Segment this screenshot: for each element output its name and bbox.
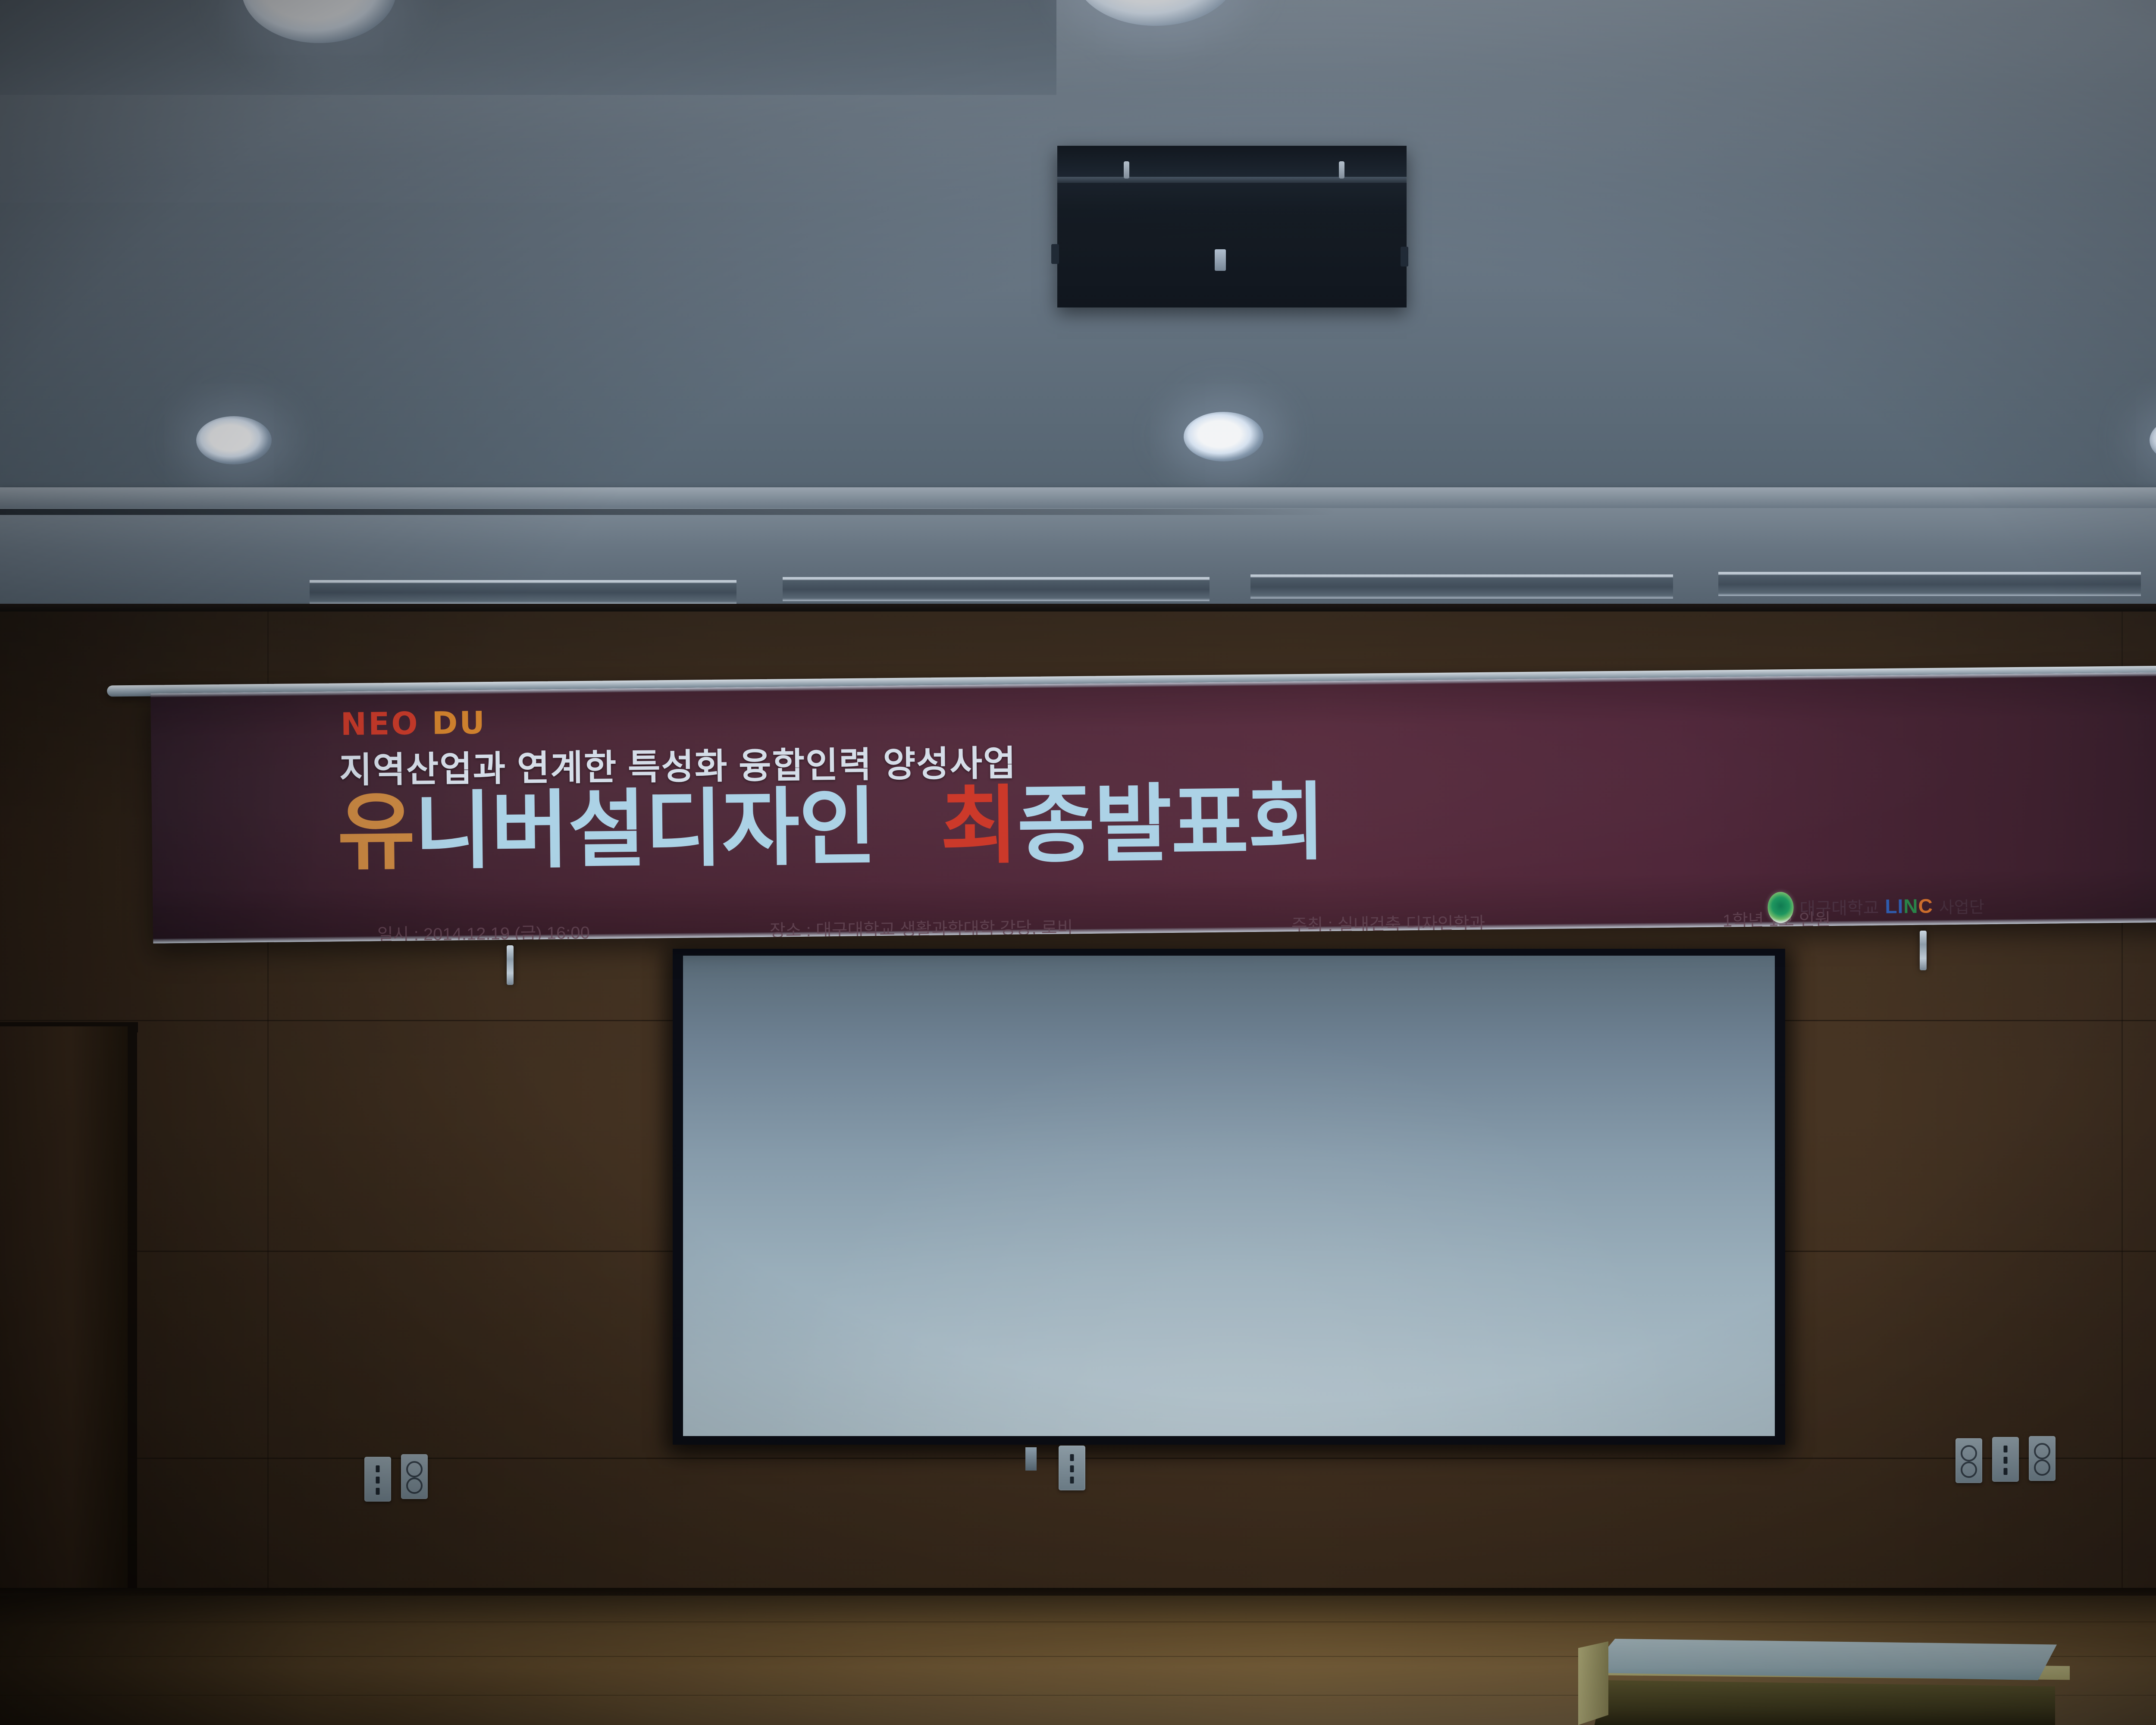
ceiling-speaker-mount-stud-left xyxy=(1124,161,1129,179)
banner-title: 유니버설디자인최종발표회 xyxy=(337,779,1325,876)
recessed-downlight-left xyxy=(196,416,272,464)
wall-outlet-plate-right-a[interactable] xyxy=(1955,1438,1982,1483)
ceiling-beam xyxy=(0,487,2156,508)
neodu-logo: NEO DU xyxy=(340,707,486,740)
ceiling-speaker-mount-stud-right xyxy=(1339,161,1344,179)
banner-title-spacer xyxy=(876,856,940,856)
ceiling-speaker-bracket-left xyxy=(1051,244,1059,264)
air-vent-rightmost xyxy=(1718,572,2141,596)
outlet-slot xyxy=(1070,1454,1074,1461)
side-door-frame-right xyxy=(128,1022,137,1609)
projection-screen[interactable] xyxy=(683,956,1775,1436)
banner-hook-left xyxy=(507,945,514,985)
linc-letter-c: C xyxy=(1918,895,1933,917)
ceiling-shadow xyxy=(0,509,1337,515)
ceiling-speaker-top xyxy=(1057,146,1407,179)
linc-suffix: 사업단 xyxy=(1939,894,1984,918)
outlet-slot xyxy=(2004,1468,2008,1475)
lectern-body xyxy=(1585,1680,2055,1725)
outlet-slot xyxy=(376,1488,380,1495)
air-vent-right xyxy=(783,577,1210,601)
ceiling-speaker-badge xyxy=(1215,249,1226,271)
outlet-slot xyxy=(1070,1477,1074,1483)
ceiling-speaker-lip xyxy=(1057,177,1407,183)
daegu-university-emblem-icon xyxy=(1767,892,1794,923)
lectern-side-panel xyxy=(1578,1641,1608,1725)
linc-sponsor-logo: 대구대학교 LINC 사업단 xyxy=(1767,890,1984,923)
banner-title-part4: 종발표회 xyxy=(1017,775,1326,872)
auditorium-photo: NEO DU 지역산업과 연계한 특성화 융합인력 양성사업 유니버설디자인최종… xyxy=(0,0,2156,1725)
wall-outlet-plate-right-b[interactable] xyxy=(1992,1437,2019,1482)
banner-title-part2: 니버설디자인 xyxy=(414,780,876,879)
linc-letter-i: I xyxy=(1897,895,1903,917)
wall-outlet-plate-right-c[interactable] xyxy=(2029,1436,2056,1481)
side-door[interactable] xyxy=(0,1026,129,1609)
banner-title-part3: 최 xyxy=(940,778,1018,874)
banner-hook-right xyxy=(1920,931,1927,970)
outlet-slot xyxy=(1070,1465,1074,1472)
outlet-slot xyxy=(2004,1457,2008,1464)
projection-screen-pull-tab[interactable] xyxy=(1025,1447,1037,1471)
linc-letter-l: L xyxy=(1885,895,1898,917)
wall-outlet-plate-center[interactable] xyxy=(1059,1446,1085,1490)
outlet-slot xyxy=(2004,1446,2008,1452)
event-banner: NEO DU 지역산업과 연계한 특성화 융합인력 양성사업 유니버설디자인최종… xyxy=(150,671,2156,943)
outlet-slot xyxy=(376,1477,380,1483)
air-vent-left xyxy=(310,580,736,604)
linc-wordmark: LINC xyxy=(1885,894,1933,918)
banner-title-part1: 유 xyxy=(337,784,415,880)
linc-university-name: 대구대학교 xyxy=(1799,894,1879,920)
wall-top-trim xyxy=(0,604,2156,612)
wall-outlet-plate-left-a[interactable] xyxy=(364,1457,391,1502)
air-vent-far-right xyxy=(1250,574,1673,599)
neodu-logo-neo: NEO xyxy=(340,705,420,742)
lectern[interactable] xyxy=(1574,1639,2070,1725)
neodu-logo-du: DU xyxy=(432,705,486,741)
linc-letter-n: N xyxy=(1903,895,1918,917)
recessed-downlight-center xyxy=(1184,412,1263,461)
ceiling-speaker-bracket-right xyxy=(1401,247,1408,267)
outlet-slot xyxy=(376,1465,380,1472)
wall-outlet-plate-left-b[interactable] xyxy=(401,1454,428,1499)
